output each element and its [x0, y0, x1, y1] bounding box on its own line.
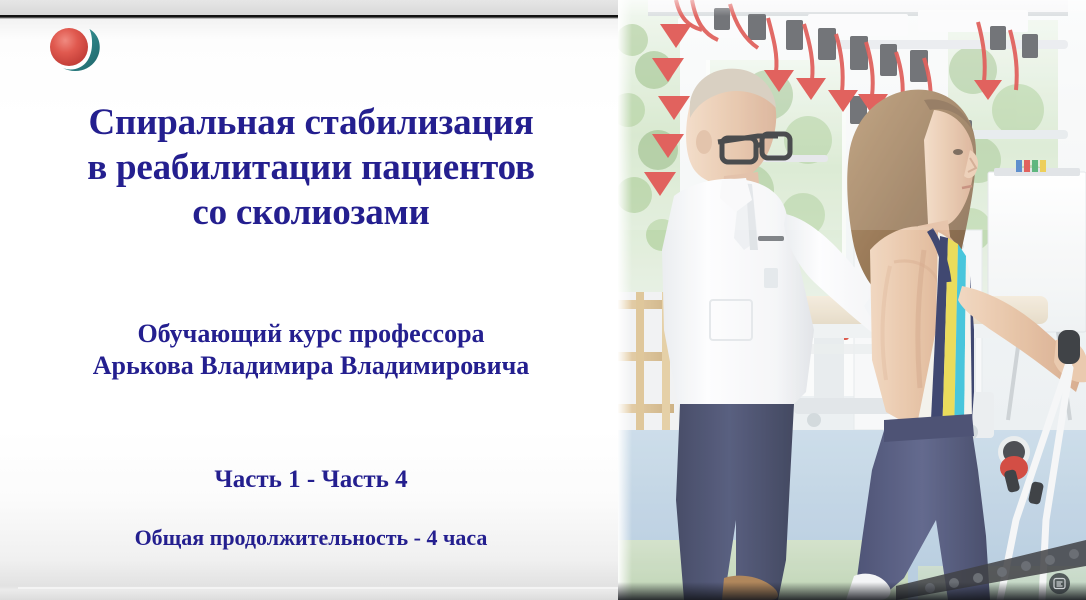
presentation-slide: Спиральная стабилизация в реабилитации п…: [0, 0, 1086, 600]
logo-circle: [50, 28, 88, 66]
subtitle-line-1: Обучающий курс профессора: [0, 318, 622, 350]
top-divider-rule: [0, 15, 622, 17]
title-line-2: в реабилитации пациентов: [0, 145, 622, 190]
subtitle-line-2: Арькова Владимира Владимировича: [0, 350, 622, 382]
page-title: Спиральная стабилизация в реабилитации п…: [0, 100, 622, 235]
course-author: Обучающий курс профессора Арькова Владим…: [0, 318, 622, 382]
course-duration: Общая продолжительность - 4 часа: [0, 524, 622, 552]
title-panel: Спиральная стабилизация в реабилитации п…: [0, 0, 622, 600]
spiral-stabilization-logo: [44, 24, 108, 80]
clinic-photo: [618, 0, 1086, 600]
course-parts: Часть 1 - Часть 4: [0, 465, 622, 495]
title-line-1: Спиральная стабилизация: [0, 100, 622, 145]
bottom-divider-rule: [18, 587, 622, 589]
title-line-3: со сколиозами: [0, 190, 622, 235]
top-bar: [0, 0, 622, 15]
